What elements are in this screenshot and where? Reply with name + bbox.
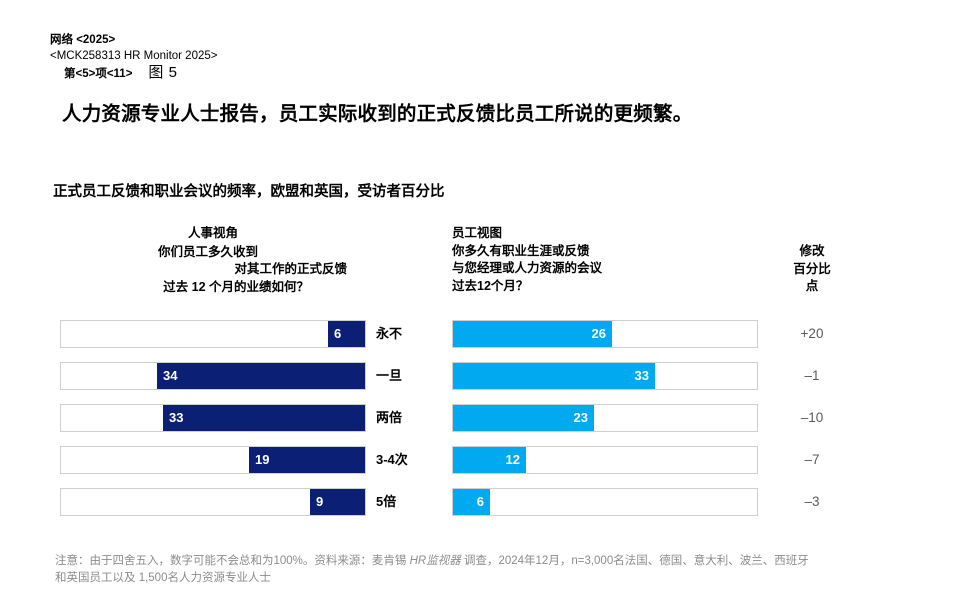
employee-bar-value: 6: [477, 489, 484, 515]
hr-bar-track: 9: [60, 488, 366, 516]
change-value: +20: [782, 320, 842, 348]
change-value: –1: [782, 362, 842, 390]
category-label: 5倍: [376, 488, 444, 516]
hr-bar-value: 34: [163, 363, 177, 389]
hr-bar-value: 33: [169, 405, 183, 431]
employee-bar: 12: [453, 447, 526, 473]
change-value: –10: [782, 404, 842, 432]
employee-bar-value: 26: [592, 321, 606, 347]
employee-bar-track: 12: [452, 446, 758, 474]
employee-bar-value: 12: [506, 447, 520, 473]
employee-bar-track: 6: [452, 488, 758, 516]
hr-bar: 19: [249, 447, 365, 473]
footnote-note: 注意：由于四舍五入，数字可能不会总和为100%。资料来源：麦肯锡: [55, 555, 406, 567]
hr-bar-track: 19: [60, 446, 366, 474]
employee-bar-value: 33: [635, 363, 649, 389]
footnote-source-title: HR监视器: [410, 555, 461, 567]
change-value: –7: [782, 446, 842, 474]
hr-bar: 9: [310, 489, 365, 515]
category-label: 一旦: [376, 362, 444, 390]
employee-bar-track: 23: [452, 404, 758, 432]
footnote-line-2: 和英国员工以及 1,500名人力资源专业人士: [55, 572, 271, 584]
hr-bar-value: 9: [316, 489, 323, 515]
hr-bar-track: 6: [60, 320, 366, 348]
chart-row: 6永不26+20: [0, 320, 965, 348]
employee-bar-track: 26: [452, 320, 758, 348]
category-label: 两倍: [376, 404, 444, 432]
chart-row: 33两倍23–10: [0, 404, 965, 432]
employee-bar: 33: [453, 363, 655, 389]
hr-bar: 6: [328, 321, 365, 347]
hr-bar-track: 34: [60, 362, 366, 390]
employee-bar-track: 33: [452, 362, 758, 390]
footnote: 注意：由于四舍五入，数字可能不会总和为100%。资料来源：麦肯锡 HR监视器 调…: [55, 553, 935, 587]
hr-bar-value: 6: [334, 321, 341, 347]
hr-bar-track: 33: [60, 404, 366, 432]
employee-bar-value: 23: [574, 405, 588, 431]
category-label: 3-4次: [376, 446, 444, 474]
employee-bar: 6: [453, 489, 490, 515]
employee-bar: 26: [453, 321, 612, 347]
hr-bar-value: 19: [255, 447, 269, 473]
employee-bar: 23: [453, 405, 594, 431]
chart-row: 34一旦33–1: [0, 362, 965, 390]
chart-row: 193-4次12–7: [0, 446, 965, 474]
chart-plot-area: 6永不26+2034一旦33–133两倍23–10193-4次12–795倍6–…: [0, 0, 965, 603]
hr-bar: 34: [157, 363, 365, 389]
hr-bar: 33: [163, 405, 365, 431]
change-value: –3: [782, 488, 842, 516]
footnote-survey-detail: 调查，2024年12月，n=3,000名法国、德国、意大利、波兰、西班牙: [464, 555, 809, 567]
category-label: 永不: [376, 320, 444, 348]
chart-row: 95倍6–3: [0, 488, 965, 516]
